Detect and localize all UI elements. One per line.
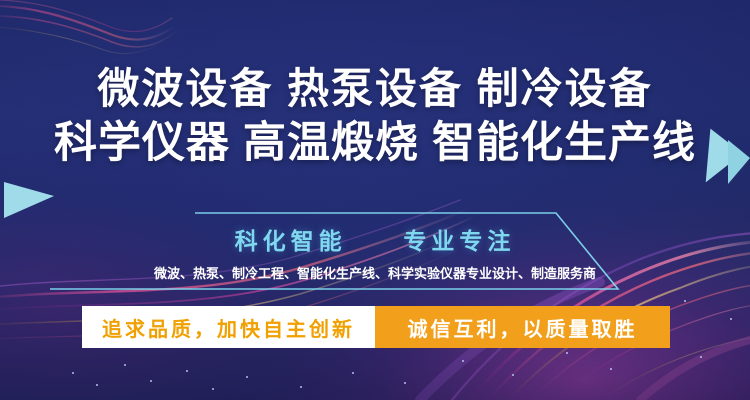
headline-block: 微波设备 热泵设备 制冷设备 科学仪器 高温煅烧 智能化生产线 xyxy=(0,62,750,170)
slogan-right: 专业专注 xyxy=(403,228,515,254)
cta-button-quality[interactable]: 追求品质，加快自主创新 xyxy=(82,306,375,348)
slogan-left: 科化智能 xyxy=(235,228,347,254)
cta-button-integrity[interactable]: 诚信互利，以质量取胜 xyxy=(375,306,670,348)
subtitle-text: 微波、热泵、制冷工程、智能化生产线、科学实验仪器专业设计、制造服务商 xyxy=(0,263,750,282)
headline-line-1: 微波设备 热泵设备 制冷设备 xyxy=(0,62,750,116)
promo-banner: 微波设备 热泵设备 制冷设备 科学仪器 高温煅烧 智能化生产线 科化智能 专业专… xyxy=(0,0,750,400)
headline-line-2: 科学仪器 高温煅烧 智能化生产线 xyxy=(0,116,750,170)
slogan-row: 科化智能 专业专注 xyxy=(0,222,750,256)
cta-button-row: 追求品质，加快自主创新 诚信互利，以质量取胜 xyxy=(82,306,670,348)
